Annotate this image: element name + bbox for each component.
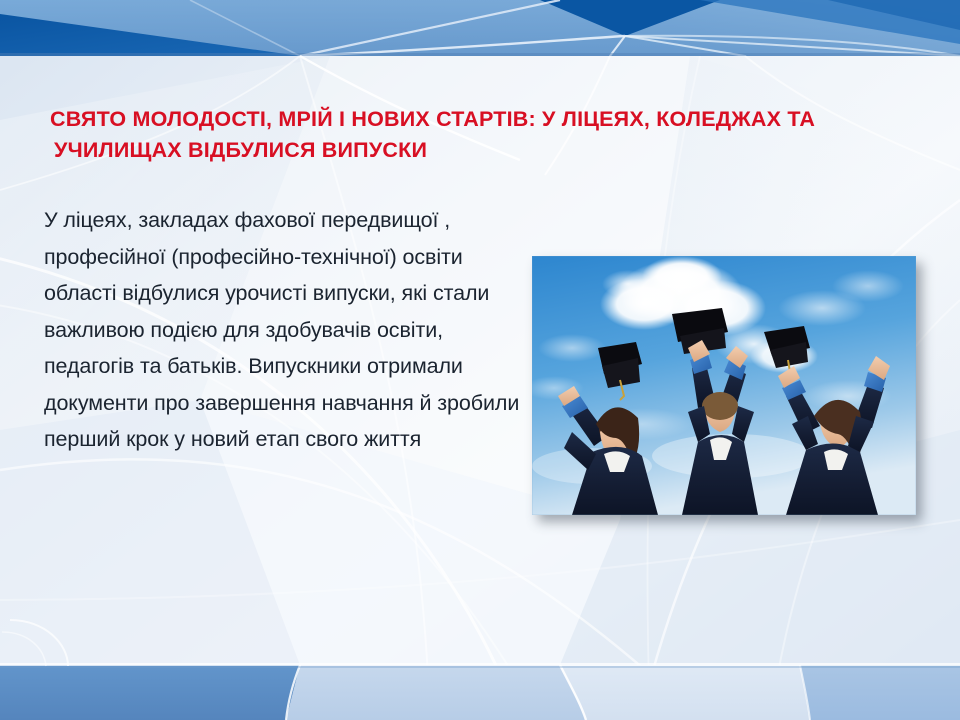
footer-segment-left — [0, 665, 300, 720]
graduation-photo-image — [532, 256, 916, 515]
title-line-2: УЧИЛИЩАХ ВІДБУЛИСЯ ВИПУСКИ — [40, 135, 920, 166]
footer-segment-midleft — [286, 665, 586, 720]
graduation-photo — [532, 256, 916, 515]
footer-segment-right — [800, 665, 960, 720]
footer-segment-midright — [560, 665, 810, 720]
header-band — [0, 0, 960, 56]
title-line-1: СВЯТО МОЛОДОСТІ, МРІЙ І НОВИХ СТАРТІВ: У… — [40, 104, 920, 135]
body-paragraph: У ліцеях, закладах фахової передвищої , … — [44, 202, 524, 458]
presentation-slide: СВЯТО МОЛОДОСТІ, МРІЙ І НОВИХ СТАРТІВ: У… — [0, 0, 960, 720]
slide-title: СВЯТО МОЛОДОСТІ, МРІЙ І НОВИХ СТАРТІВ: У… — [40, 104, 920, 166]
